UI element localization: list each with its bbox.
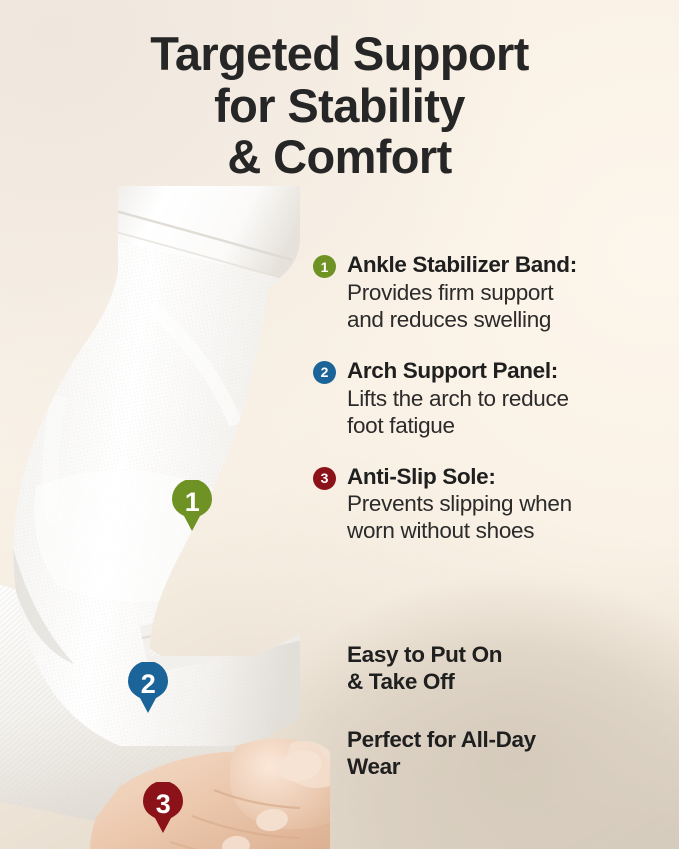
closing-statement-1: Easy to Put On & Take Off [347,641,677,695]
marker-pin-2-number: 2 [126,662,170,706]
feature-list: 1 Ankle Stabilizer Band: Provides firm s… [313,252,673,544]
marker-pin-1-number: 1 [170,480,214,524]
feature-badge-2-number: 2 [321,365,329,379]
product-infographic: Targeted Support for Stability & Comfort [0,0,679,849]
page-title: Targeted Support for Stability & Comfort [0,28,679,183]
feature-badge-1: 1 [313,255,336,278]
marker-pin-1: 1 [170,480,214,532]
feature-item-2: 2 Arch Support Panel: Lifts the arch to … [313,358,673,439]
feature-badge-3: 3 [313,467,336,490]
feature-item-1: 1 Ankle Stabilizer Band: Provides firm s… [313,252,673,333]
feature-badge-1-number: 1 [321,260,329,274]
product-image: 1 2 3 [0,186,330,849]
closing-statements: Easy to Put On & Take Off Perfect for Al… [347,641,677,780]
feature-description-1: Provides firm support and reduces swelli… [347,279,673,333]
feature-item-3: 3 Anti-Slip Sole: Prevents slipping when… [313,464,673,545]
marker-pin-2: 2 [126,662,170,714]
closing-statement-2: Perfect for All-Day Wear [347,726,677,780]
feature-description-3: Prevents slipping when worn without shoe… [347,490,673,544]
feature-badge-2: 2 [313,361,336,384]
marker-pin-3: 3 [141,782,185,834]
feature-title-2: Arch Support Panel: [347,358,673,385]
feature-title-1: Ankle Stabilizer Band: [347,252,673,279]
feature-description-2: Lifts the arch to reduce foot fatigue [347,385,673,439]
feature-badge-3-number: 3 [321,471,329,485]
feature-title-3: Anti-Slip Sole: [347,464,673,491]
marker-pin-3-number: 3 [141,782,185,826]
